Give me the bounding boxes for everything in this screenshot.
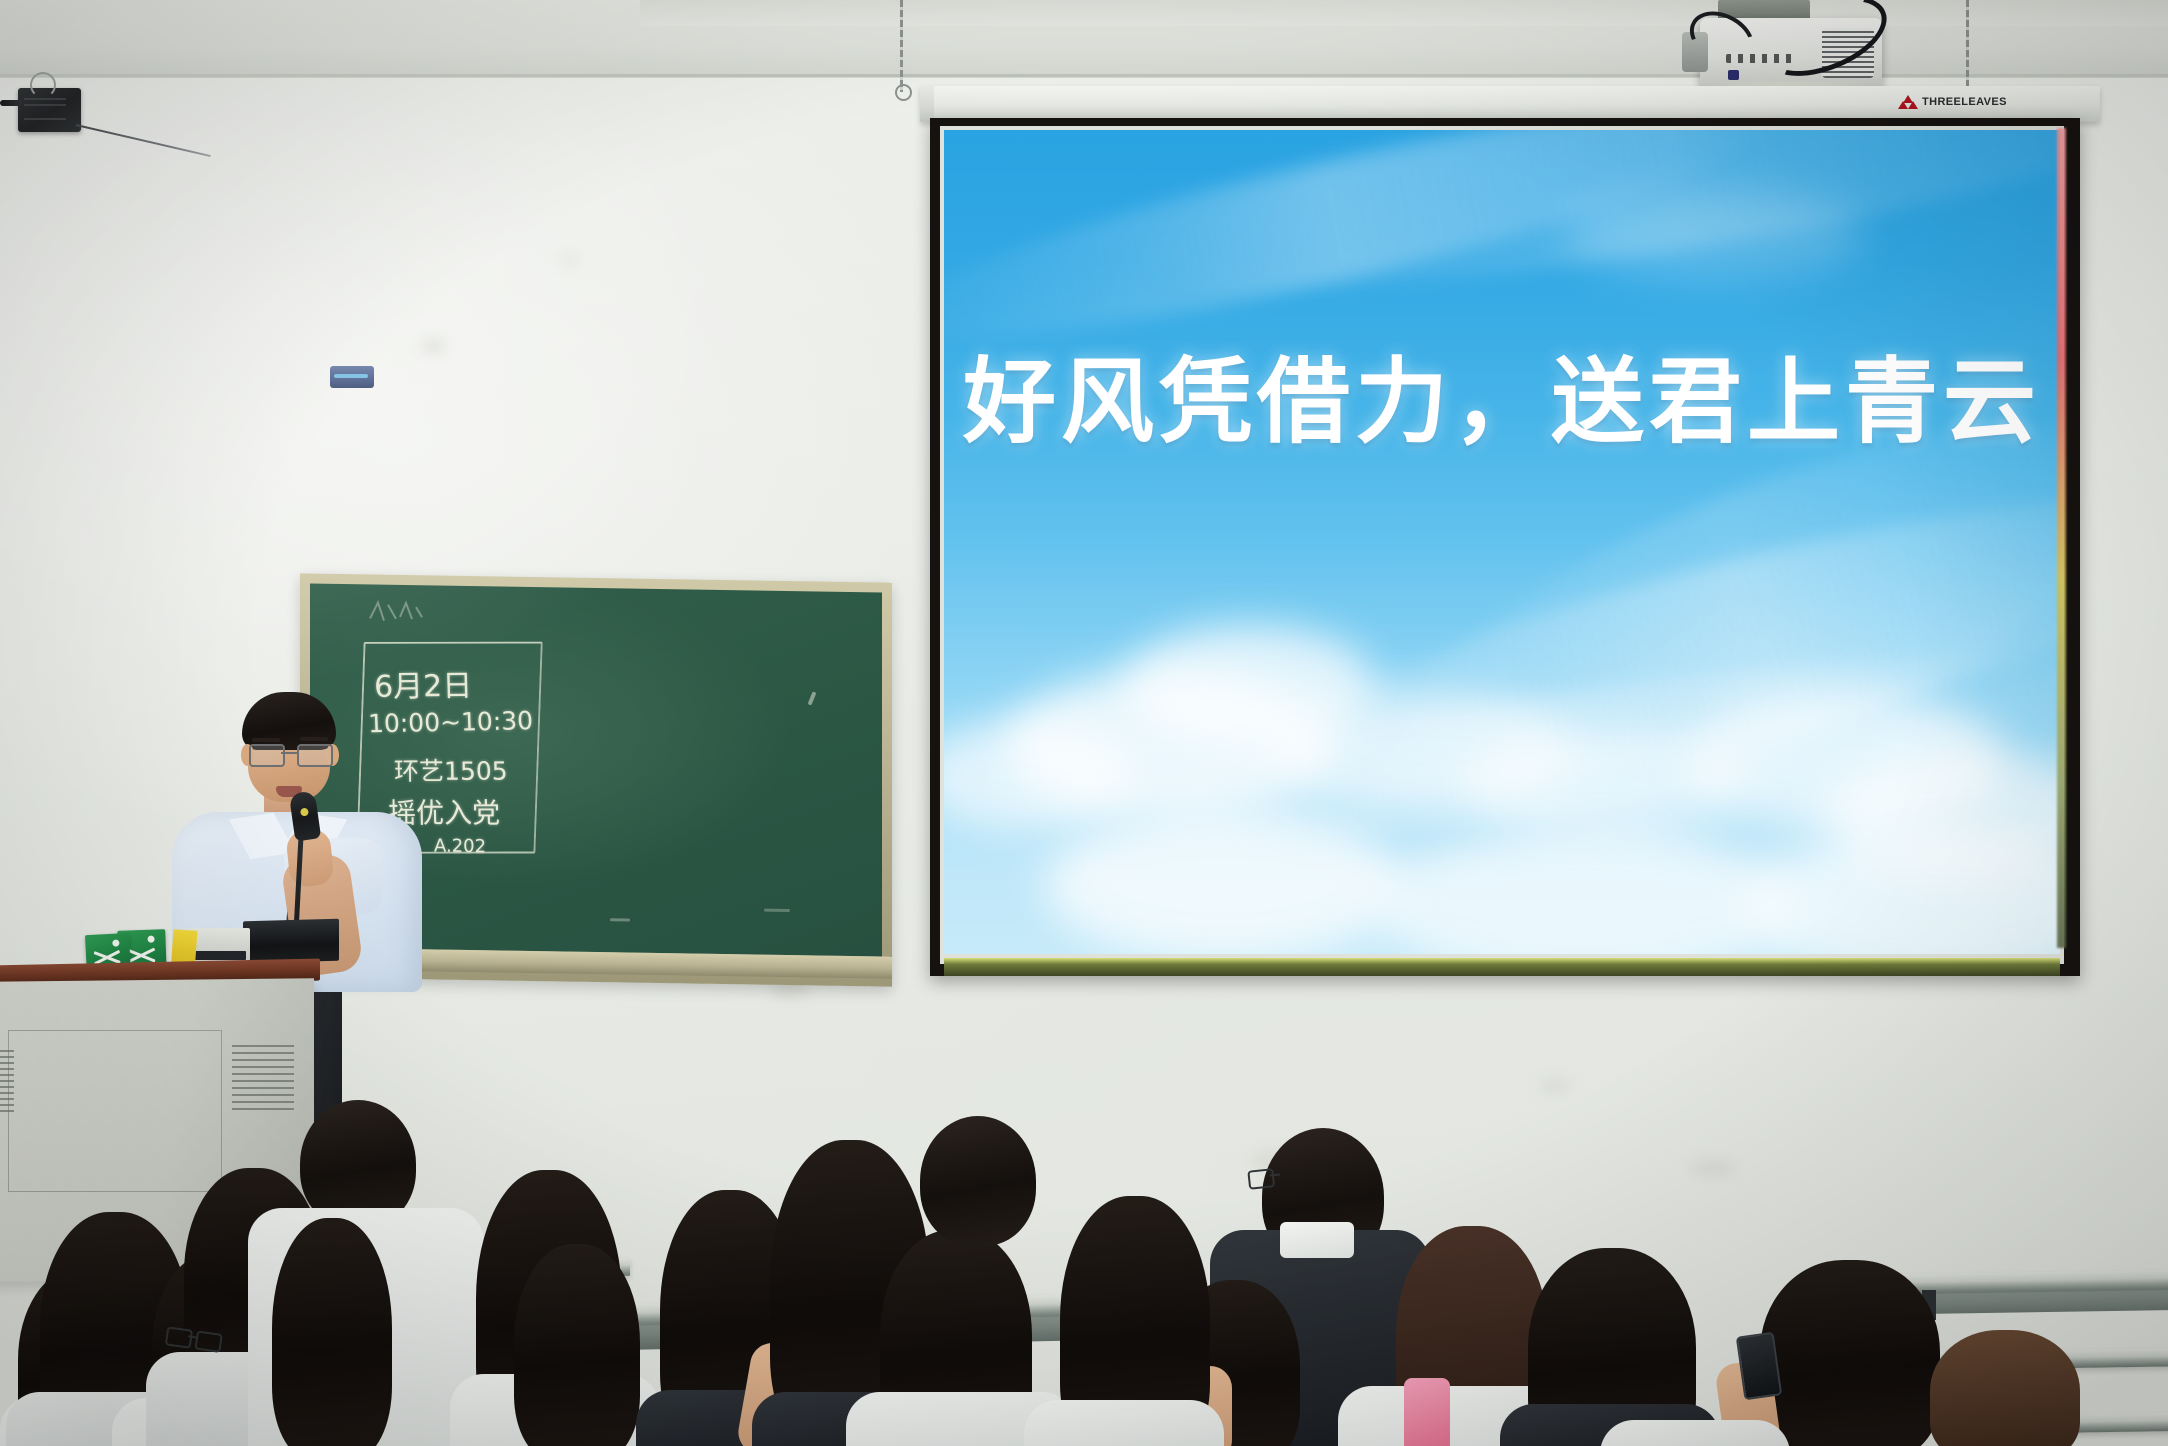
- wall-smudge: [420, 340, 446, 352]
- audience-collar: [1280, 1222, 1354, 1258]
- blackboard-scribble: [366, 596, 428, 627]
- glasses-icon: [247, 744, 333, 764]
- blackboard-line-1: 6月2日: [373, 661, 472, 706]
- blackboard-line-2: 10:00~10:30: [368, 706, 534, 738]
- projection-screen-frame: 好风凭借力，送君上青云: [930, 118, 2080, 976]
- screen-housing-endcap: [920, 86, 934, 122]
- podium-vent-grille: [232, 1044, 294, 1110]
- audience-head: [1930, 1330, 2080, 1446]
- slide-bottom-edge: [944, 958, 2060, 976]
- blackboard-line-5: A.202: [434, 835, 486, 857]
- classroom-photo-scene: THREELEAVES 好风凭借力，送君上青云: [0, 0, 2168, 1446]
- ceiling-panel-seam-upper: [640, 0, 2168, 26]
- slide-cloud: [1044, 810, 1404, 954]
- laptop-icon: [243, 919, 339, 964]
- podium-vent-grille-side: [0, 1050, 14, 1112]
- wall-smudge: [1540, 1080, 1570, 1092]
- screen-brand: THREELEAVES: [1900, 95, 2007, 109]
- screen-hang-chain-right: [1966, 0, 1969, 96]
- slide-title: 好风凭借力，送君上青云: [944, 326, 2060, 461]
- slide-cloud: [1374, 830, 1794, 954]
- chain-ring: [895, 84, 912, 101]
- chalk-mark: [808, 691, 817, 705]
- audience-head: [920, 1116, 1036, 1246]
- pink-bottle: [1404, 1378, 1450, 1446]
- slide-cloud: [1564, 190, 1864, 280]
- chalk-mark: [764, 909, 790, 912]
- screen-brand-label: THREELEAVES: [1922, 96, 2007, 108]
- chalk-mark: [610, 918, 630, 921]
- audience-head: [272, 1218, 392, 1446]
- projection-edge-fringe: [2057, 128, 2066, 948]
- podium-front-panel: [8, 1030, 222, 1192]
- screen-hang-chain-left: [900, 0, 903, 92]
- speaker-mount-loop: [30, 72, 56, 98]
- audience-head: [1760, 1260, 1940, 1446]
- projected-slide: 好风凭借力，送君上青云: [944, 130, 2060, 954]
- blackboard-eraser: [330, 366, 374, 388]
- speaker-cable: [0, 100, 22, 106]
- audience-torso: [1024, 1400, 1224, 1446]
- projector-power-port: [1728, 70, 1739, 80]
- three-leaves-logo-icon: [1900, 95, 1916, 109]
- wall-smudge: [1690, 1160, 1736, 1176]
- audience-torso: [1600, 1420, 1790, 1446]
- slide-cloud: [1744, 830, 2060, 954]
- presenter-brow-left: [252, 738, 280, 742]
- wall-smudge: [560, 255, 578, 264]
- audience-head: [514, 1244, 640, 1446]
- blackboard-line-3: 环艺1505: [394, 752, 508, 788]
- presenter-brow-right: [300, 737, 328, 741]
